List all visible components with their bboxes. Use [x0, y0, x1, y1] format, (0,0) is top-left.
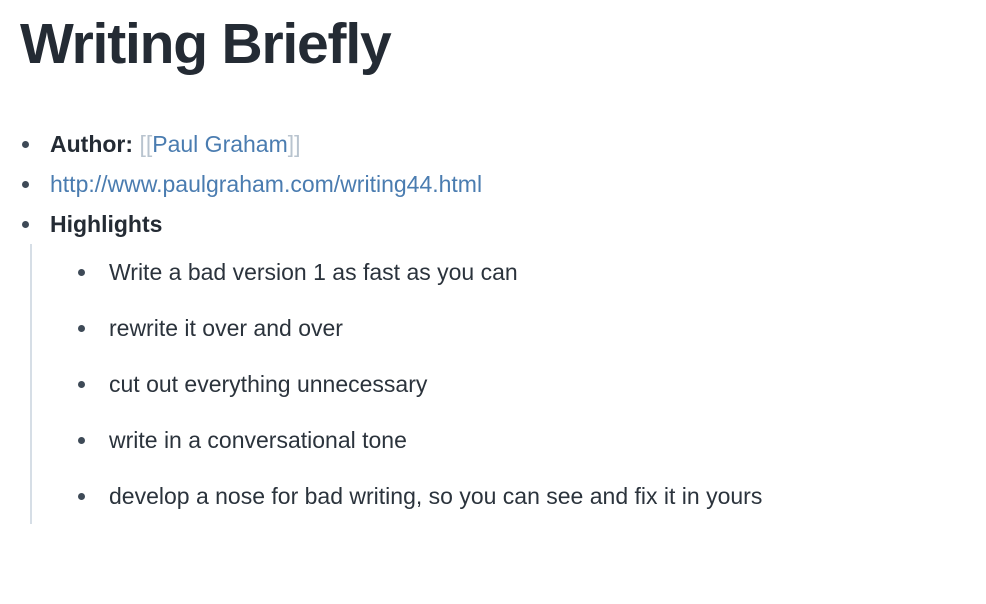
bullet-icon: [78, 381, 85, 388]
list-item[interactable]: Write a bad version 1 as fast as you can: [0, 244, 986, 300]
outline-root: Author:[[Paul Graham]] http://www.paulgr…: [0, 124, 986, 524]
outline-row[interactable]: rewrite it over and over: [0, 300, 986, 356]
bullet-icon: [22, 141, 29, 148]
highlight-text: develop a nose for bad writing, so you c…: [109, 482, 762, 510]
wikilink-open-bracket: [[: [139, 131, 152, 157]
bullet-icon: [78, 325, 85, 332]
outline-row[interactable]: Highlights: [0, 204, 986, 244]
list-item[interactable]: write in a conversational tone: [0, 412, 986, 468]
outline-item-source-url[interactable]: http://www.paulgraham.com/writing44.html: [0, 164, 986, 204]
author-line: Author:[[Paul Graham]]: [50, 124, 301, 164]
outline-row[interactable]: develop a nose for bad writing, so you c…: [0, 468, 986, 524]
outline-row[interactable]: http://www.paulgraham.com/writing44.html: [0, 164, 986, 204]
bullet-icon: [22, 221, 29, 228]
highlights-children: Write a bad version 1 as fast as you can…: [0, 244, 986, 524]
highlights-label: Highlights: [50, 204, 162, 244]
bullet-icon: [78, 493, 85, 500]
list-item[interactable]: rewrite it over and over: [0, 300, 986, 356]
highlight-text: write in a conversational tone: [109, 426, 407, 454]
source-url-link[interactable]: http://www.paulgraham.com/writing44.html: [50, 164, 482, 204]
highlight-text: rewrite it over and over: [109, 314, 343, 342]
bullet-icon: [78, 269, 85, 276]
bullet-icon: [22, 181, 29, 188]
list-item[interactable]: develop a nose for bad writing, so you c…: [0, 468, 986, 524]
highlight-text: Write a bad version 1 as fast as you can: [109, 258, 518, 286]
outline-row[interactable]: cut out everything unnecessary: [0, 356, 986, 412]
outline-row[interactable]: write in a conversational tone: [0, 412, 986, 468]
outline-row[interactable]: Author:[[Paul Graham]]: [0, 124, 986, 164]
outline-item-highlights[interactable]: Highlights Write a bad version 1 as fast…: [0, 204, 986, 524]
outline-row[interactable]: Write a bad version 1 as fast as you can: [0, 244, 986, 300]
list-item[interactable]: cut out everything unnecessary: [0, 356, 986, 412]
note-page: Writing Briefly Author:[[Paul Graham]] h…: [0, 0, 986, 604]
page-title: Writing Briefly: [0, 0, 986, 78]
highlight-text: cut out everything unnecessary: [109, 370, 427, 398]
wikilink-close-bracket: ]]: [288, 131, 301, 157]
wikilink-paul-graham[interactable]: Paul Graham: [152, 131, 288, 157]
bullet-icon: [78, 437, 85, 444]
author-label: Author:: [50, 131, 133, 157]
outline-item-author[interactable]: Author:[[Paul Graham]]: [0, 124, 986, 164]
